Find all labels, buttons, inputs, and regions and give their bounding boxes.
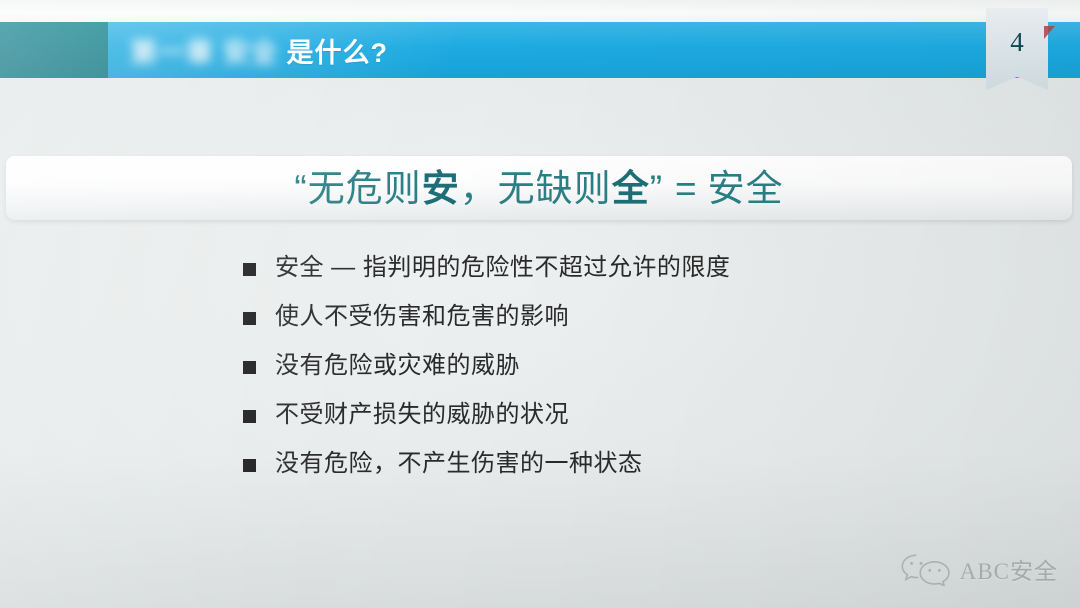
- list-item: 使人不受伤害和危害的影响: [243, 301, 1003, 350]
- slide-title: 第一章 安全 是什么?: [130, 22, 388, 78]
- headline-text: “无危则安，无缺则全”=安全: [294, 170, 783, 207]
- headline-result: 安全: [708, 168, 784, 209]
- headline-banner: “无危则安，无缺则全”=安全: [6, 156, 1072, 220]
- headline-segment-3: ，无缺则: [460, 168, 612, 209]
- wechat-icon: [899, 552, 953, 586]
- list-item-label: 安全 — 指判明的危险性不超过允许的限度: [275, 252, 730, 284]
- headline-segment-4-bold: 全: [612, 168, 650, 209]
- ribbon-fold-icon: [1044, 26, 1055, 39]
- header-accent-block: [0, 22, 108, 78]
- watermark-label: ABC安全: [960, 552, 1058, 586]
- list-item-label: 使人不受伤害和危害的影响: [275, 301, 569, 333]
- headline-segment-2-bold: 安: [422, 168, 460, 209]
- square-bullet-icon: [243, 312, 256, 325]
- list-item: 安全 — 指判明的危险性不超过允许的限度: [243, 252, 1003, 301]
- slide-canvas: 第一章 安全 是什么? 4 “无危则安，无缺则全”=安全 安全 — 指判明的危险…: [0, 0, 1080, 608]
- list-item-label: 没有危险或灾难的威胁: [275, 350, 520, 382]
- list-item: 不受财产损失的威胁的状况: [243, 399, 1003, 448]
- square-bullet-icon: [243, 263, 256, 276]
- headline-equals-sign: =: [675, 168, 698, 209]
- list-item: 没有危险或灾难的威胁: [243, 350, 1003, 399]
- square-bullet-icon: [243, 361, 256, 374]
- headline-quote-close: ”: [650, 168, 663, 209]
- headline-segment-1: 无危则: [308, 168, 422, 209]
- slide-title-clear-part: 是什么?: [287, 31, 389, 70]
- slide-title-blurred-part: 第一章 安全: [130, 31, 279, 70]
- watermark: ABC安全: [899, 552, 1058, 586]
- page-number: 4: [1010, 27, 1024, 58]
- top-strip: [0, 0, 1080, 22]
- square-bullet-icon: [243, 459, 256, 472]
- list-item-label: 不受财产损失的威胁的状况: [275, 399, 569, 431]
- list-item-label: 没有危险，不产生伤害的一种状态: [275, 448, 643, 480]
- bullet-list: 安全 — 指判明的危险性不超过允许的限度 使人不受伤害和危害的影响 没有危险或灾…: [243, 252, 1003, 497]
- list-item: 没有危险，不产生伤害的一种状态: [243, 448, 1003, 497]
- square-bullet-icon: [243, 410, 256, 423]
- headline-quote-open: “: [294, 168, 307, 209]
